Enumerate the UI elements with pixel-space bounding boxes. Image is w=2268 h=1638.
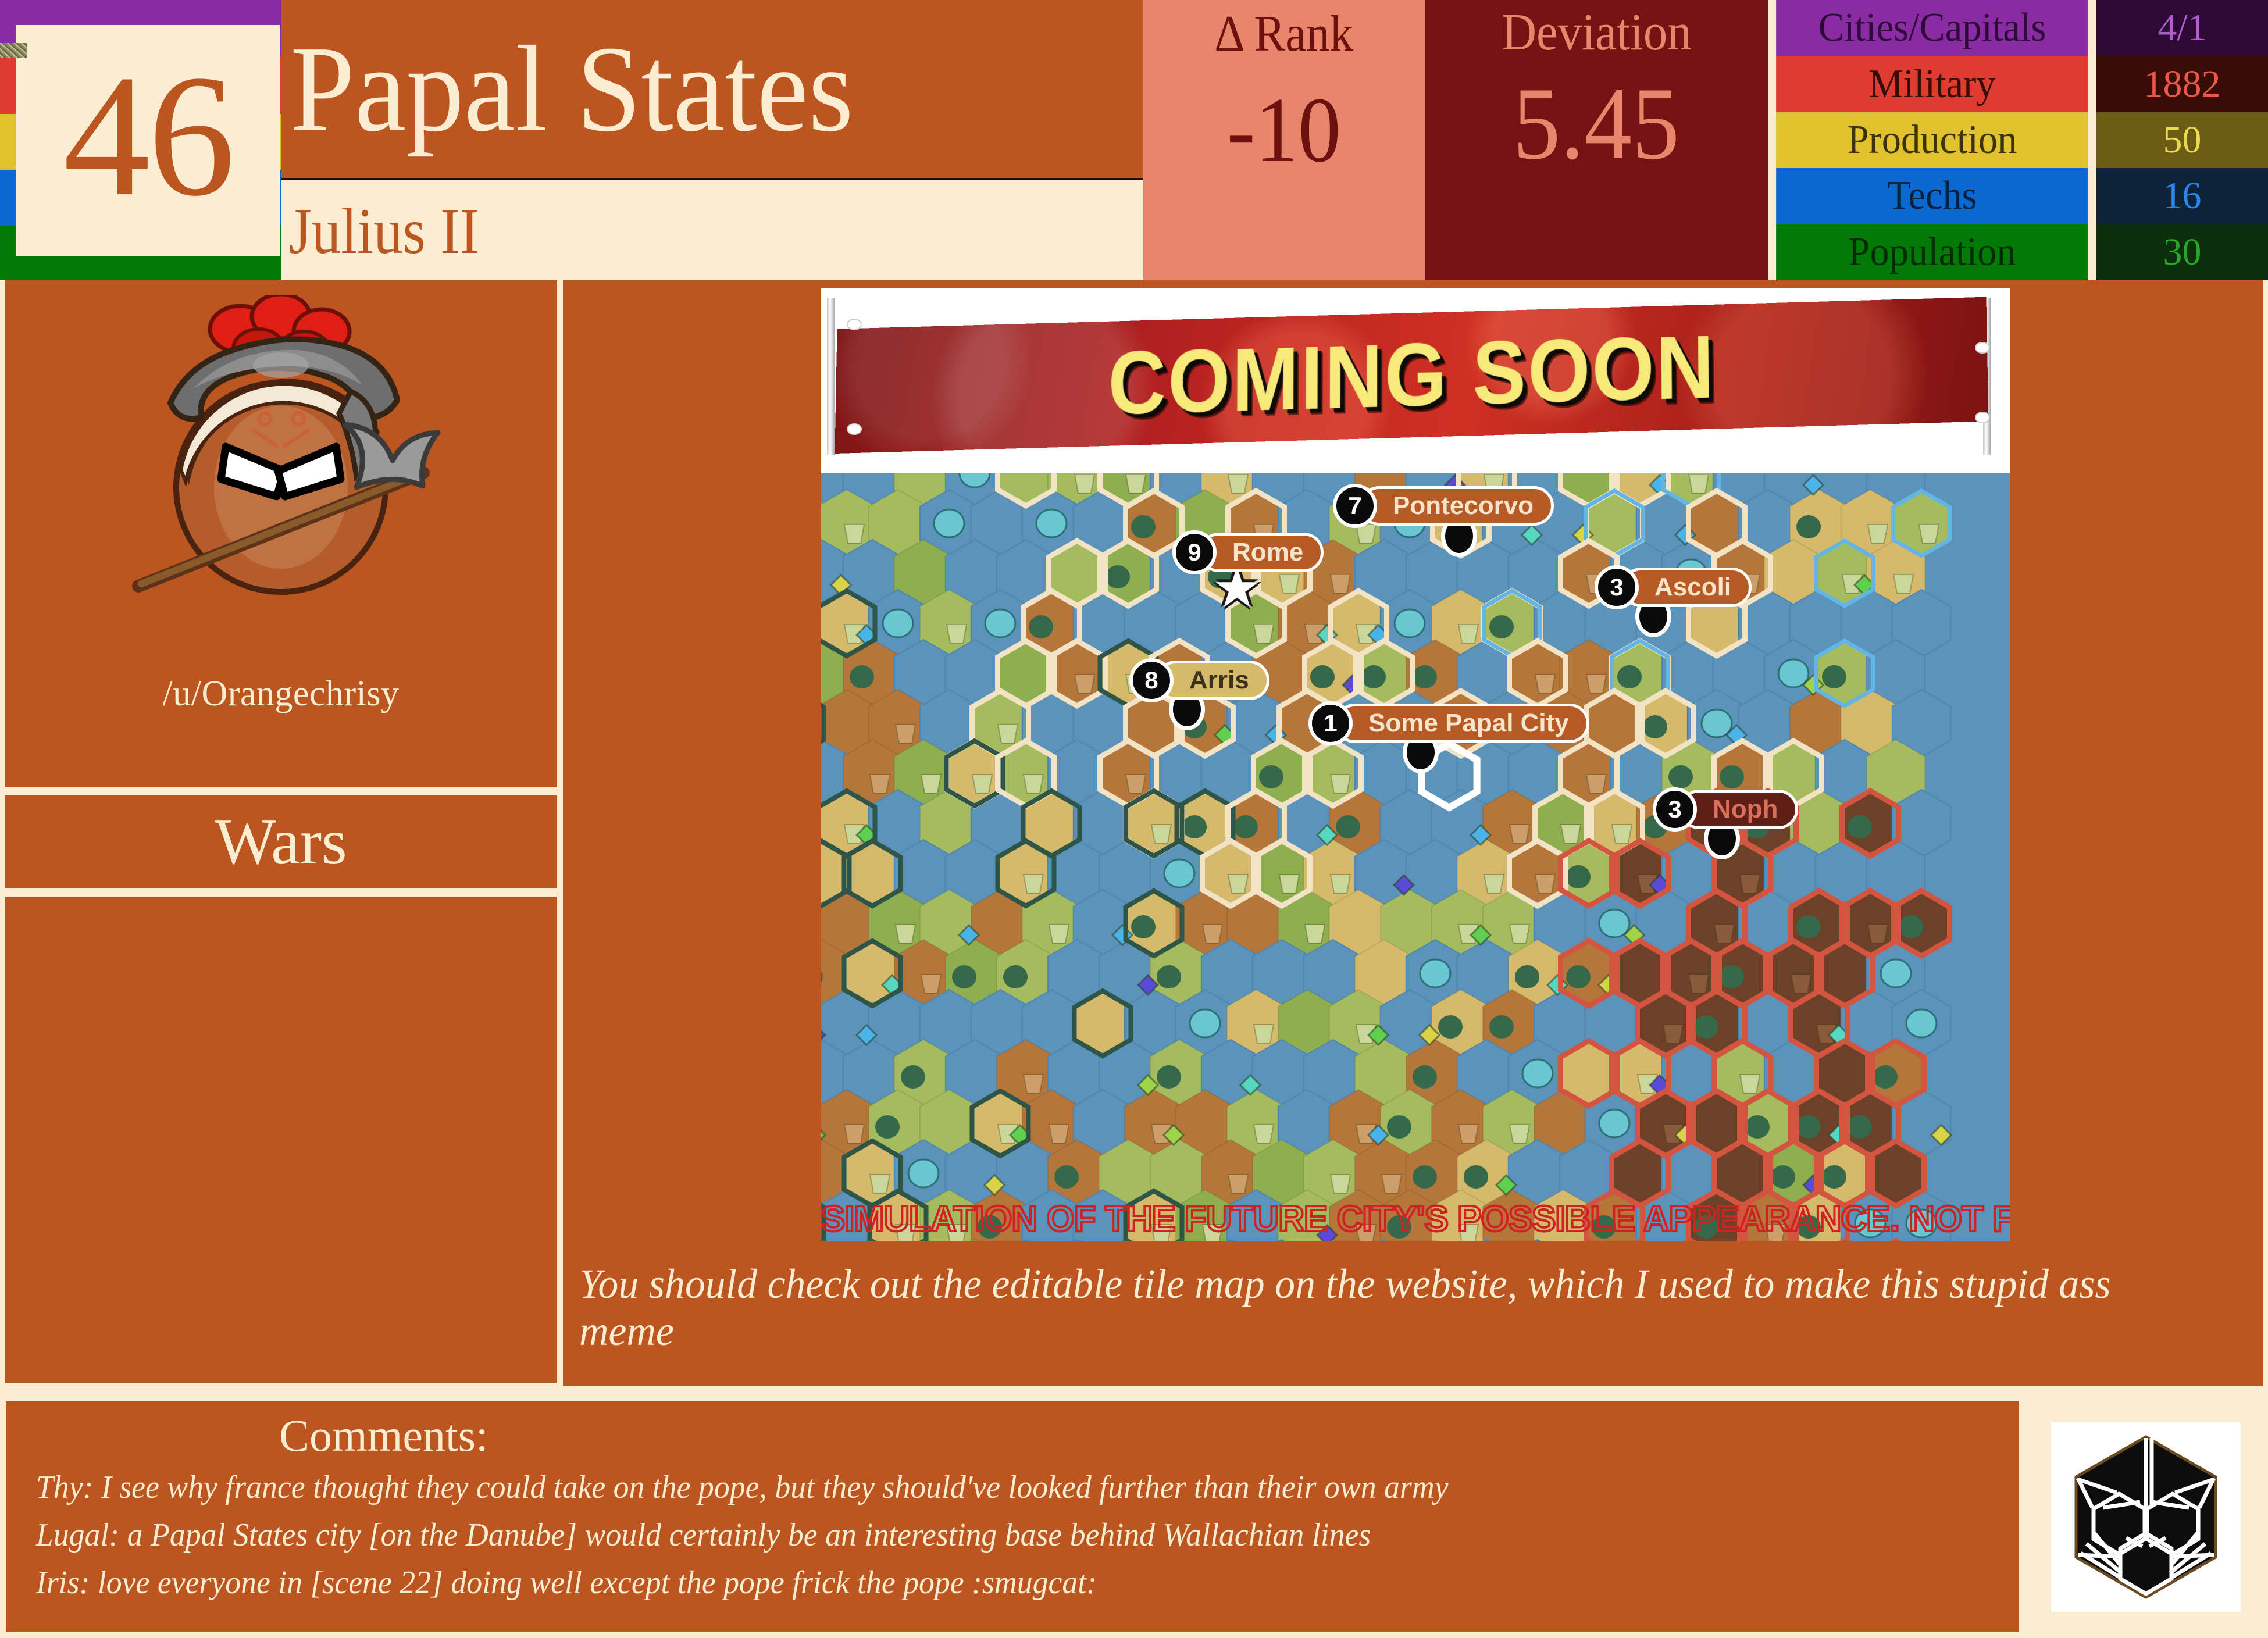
delta-rank-label: Δ Rank: [1215, 5, 1354, 63]
comment-line: Iris: love everyone in [scene 22] doing …: [6, 1564, 1939, 1601]
grommet-icon: [847, 319, 862, 330]
stat-row: Production50: [1768, 112, 2268, 168]
banner-cloth: COMING SOON: [835, 297, 1988, 454]
stat-label: Production: [1776, 112, 2088, 168]
map-column: COMING SOON: [563, 280, 2263, 1386]
footer-band: Comments: Thy: I see why france thought …: [0, 1396, 2268, 1638]
stat-value: 30: [2096, 224, 2268, 280]
stat-value: 4/1: [2096, 0, 2268, 56]
caption-panel: You should check out the editable tile m…: [563, 1250, 2263, 1386]
deviation-value: 5.45: [1513, 72, 1680, 175]
city-pop-badge: 7: [1333, 484, 1377, 528]
stat-label: Techs: [1776, 168, 2088, 224]
countryball-avatar-icon: [106, 295, 455, 668]
city-name-pill: Rome: [1199, 533, 1324, 572]
grommet-icon: [1975, 412, 1990, 423]
comments-title: Comments:: [6, 1413, 2019, 1458]
comments-list: Thy: I see why france thought they could…: [6, 1469, 2019, 1601]
leader-title-bar: Julius II: [281, 183, 1143, 280]
hex-logo-icon: [2059, 1430, 2233, 1604]
city-name-pill: Ascoli: [1621, 568, 1752, 607]
comment-line: Lugal: a Papal States city [on the Danub…: [6, 1516, 1939, 1554]
grommet-icon: [1975, 342, 1990, 354]
stat-row: Military1882: [1768, 56, 2268, 112]
city-label-pontecorvo[interactable]: 7 Pontecorvo: [1333, 484, 1554, 528]
nation-name: Papal States: [281, 27, 854, 151]
left-sidebar: /u/Orangechrisy Wars: [5, 280, 557, 1386]
stat-label: Military: [1776, 56, 2088, 112]
stats-table: Cities/Capitals4/1Military1882Production…: [1768, 0, 2268, 280]
hex-grid: [821, 473, 2010, 1241]
city-label-rome[interactable]: 9 Rome: [1172, 530, 1324, 574]
coming-soon-banner: COMING SOON: [821, 288, 2010, 473]
rank-badge-stripes: 46: [0, 0, 281, 280]
city-pop-badge: 3: [1595, 565, 1639, 609]
wars-header-panel: Wars: [5, 795, 557, 888]
body-area: /u/Orangechrisy Wars COMING SOON: [0, 280, 2268, 1391]
leader-avatar: [106, 295, 455, 668]
comments-panel: Comments: Thy: I see why france thought …: [6, 1401, 2019, 1632]
city-name-pill: Noph: [1679, 790, 1798, 829]
delta-rank-panel: Δ Rank -10: [1143, 0, 1425, 280]
stat-row: Cities/Capitals4/1: [1768, 0, 2268, 56]
city-pop-badge: 8: [1129, 658, 1174, 702]
hex-tile-map[interactable]: 7 Pontecorvo 9 Rome ★ 3 Ascoli: [821, 473, 2010, 1241]
stat-value: 50: [2096, 112, 2268, 168]
stat-row: Population30: [1768, 224, 2268, 280]
city-pop-badge: 9: [1172, 530, 1217, 574]
deviation-panel: Deviation 5.45: [1425, 0, 1768, 280]
city-name-pill: Pontecorvo: [1360, 486, 1554, 526]
coming-soon-text: COMING SOON: [1107, 315, 1716, 436]
rank-number-box: 46: [16, 25, 280, 256]
caption-text: You should check out the editable tile m…: [579, 1261, 2197, 1354]
city-pop-badge: 3: [1653, 787, 1697, 832]
texture-patch-icon: [0, 43, 27, 58]
stat-value: 1882: [2096, 56, 2268, 112]
brand-logo-box: [2030, 1401, 2262, 1632]
wars-header-label: Wars: [215, 809, 347, 875]
map-frame: COMING SOON: [821, 288, 2010, 1241]
city-label-some-papal-city[interactable]: 1 Some Papal City: [1308, 701, 1589, 745]
brand-logo-inner: [2051, 1422, 2241, 1612]
nation-title-bar: Papal States: [281, 0, 1143, 180]
leader-name: Julius II: [281, 199, 479, 264]
stat-value: 16: [2096, 168, 2268, 224]
avatar-panel: /u/Orangechrisy: [5, 280, 557, 787]
stat-label: Cities/Capitals: [1776, 0, 2088, 56]
city-label-noph[interactable]: 3 Noph: [1653, 787, 1798, 832]
city-name-pill: Some Papal City: [1335, 704, 1589, 743]
banner-pole-left-icon: [827, 298, 835, 455]
delta-rank-value: -10: [1227, 83, 1341, 176]
city-label-ascoli[interactable]: 3 Ascoli: [1595, 565, 1752, 609]
title-block: Papal States Julius II: [281, 0, 1143, 280]
infographic-card: 46 Papal States Julius II Δ Rank -10 Dev…: [0, 0, 2268, 1638]
grommet-icon: [847, 423, 862, 435]
rank-number: 46: [63, 62, 233, 210]
stat-row: Techs16: [1768, 168, 2268, 224]
map-disclaimer-text: SIMULATION OF THE FUTURE CITY'S POSSIBLE…: [821, 1198, 2010, 1240]
stat-label: Population: [1776, 224, 2088, 280]
city-pop-badge: 1: [1308, 701, 1353, 745]
city-label-arris[interactable]: 8 Arris: [1129, 658, 1269, 702]
header-band: 46 Papal States Julius II Δ Rank -10 Dev…: [0, 0, 2268, 280]
wars-list-panel: [5, 897, 557, 1383]
deviation-label: Deviation: [1502, 2, 1692, 62]
comment-line: Thy: I see why france thought they could…: [6, 1469, 1939, 1506]
author-handle: /u/Orangechrisy: [163, 673, 400, 715]
